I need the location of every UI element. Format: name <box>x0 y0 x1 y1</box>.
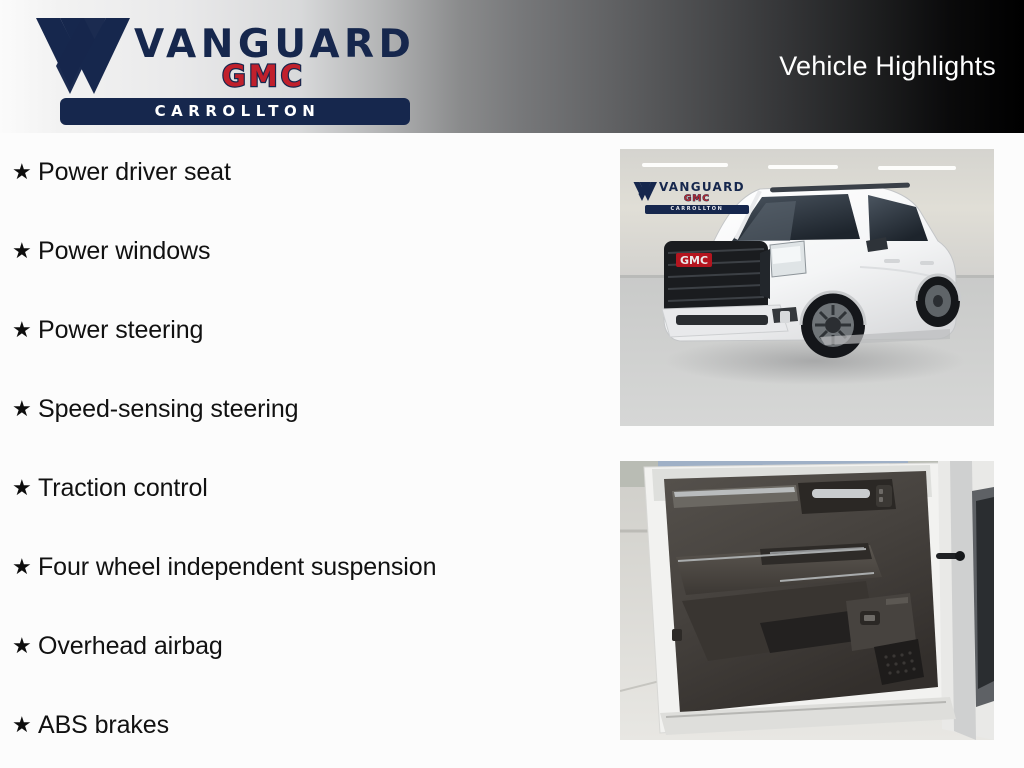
star-bullet-icon: ★ <box>12 712 38 738</box>
list-item: ★ Power steering <box>12 313 203 347</box>
feature-label: Power windows <box>38 236 210 266</box>
feature-label: Speed-sensing steering <box>38 394 298 424</box>
list-item: ★ Power windows <box>12 234 210 268</box>
feature-label: Traction control <box>38 473 208 503</box>
logo-make-word: GMC <box>222 61 305 92</box>
list-item: ★ Four wheel independent suspension <box>12 550 436 584</box>
feature-label: Four wheel independent suspension <box>38 552 436 582</box>
vehicle-interior-photo[interactable] <box>620 461 994 740</box>
list-item: ★ Power driver seat <box>12 155 231 189</box>
header-banner: VANGUARD GMC CARROLLTON Vehicle Highligh… <box>0 0 1024 133</box>
star-bullet-icon: ★ <box>12 475 38 501</box>
star-bullet-icon: ★ <box>12 396 38 422</box>
svg-text:GMC: GMC <box>680 254 708 267</box>
star-bullet-icon: ★ <box>12 633 38 659</box>
feature-label: Power steering <box>38 315 203 345</box>
vehicle-exterior-photo[interactable]: GMC <box>620 149 994 426</box>
vanguard-monogram-icon <box>30 12 150 104</box>
vehicle-features-list: ★ Power driver seat ★ Power windows ★ Po… <box>0 133 600 768</box>
vehicle-highlights-slide: VANGUARD GMC CARROLLTON Vehicle Highligh… <box>0 0 1024 768</box>
feature-label: ABS brakes <box>38 710 169 740</box>
logo-location-text: CARROLLTON <box>60 98 410 125</box>
list-item: ★ Traction control <box>12 471 208 505</box>
feature-label: Power driver seat <box>38 157 231 187</box>
logo-location-bar: CARROLLTON <box>60 98 410 125</box>
star-bullet-icon: ★ <box>12 238 38 264</box>
star-bullet-icon: ★ <box>12 159 38 185</box>
page-title: Vehicle Highlights <box>779 49 996 83</box>
star-bullet-icon: ★ <box>12 554 38 580</box>
star-bullet-icon: ★ <box>12 317 38 343</box>
feature-label: Overhead airbag <box>38 631 223 661</box>
list-item: ★ Speed-sensing steering <box>12 392 298 426</box>
list-item: ★ ABS brakes <box>12 708 169 742</box>
list-item: ★ Overhead airbag <box>12 629 223 663</box>
dealer-logo: VANGUARD GMC CARROLLTON <box>22 10 402 125</box>
